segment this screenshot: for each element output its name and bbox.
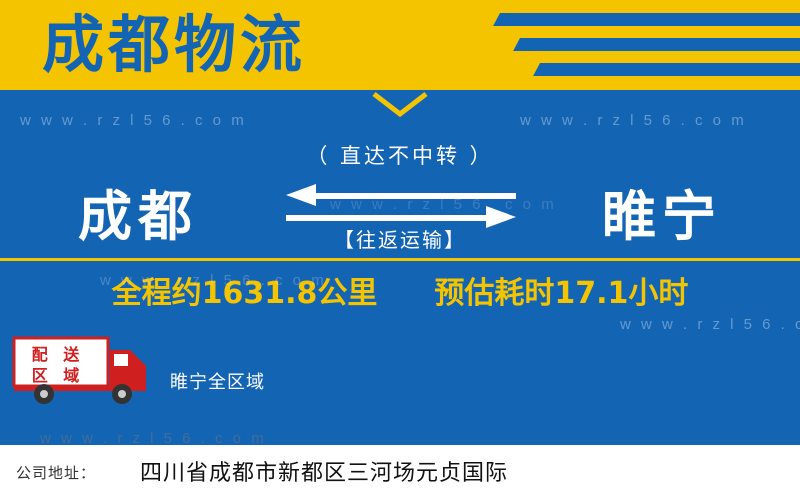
decorative-stripes [380,0,800,90]
delivery-badge: 配 送 区 域 [18,344,98,386]
logistics-banner: 成都物流 （ 直达不中转 ） 成都 睢宁 【往返运输】 全程约1631.8公里 … [0,0,800,500]
direct-note: （ 直达不中转 ） [0,140,800,170]
delivery-badge-line2: 区 域 [18,365,98,386]
stripe-1 [493,13,800,26]
round-trip-label: 【往返运输】 [0,224,800,253]
stripe-2 [513,38,800,51]
header-band: 成都物流 [0,0,800,90]
delivery-area-label: 睢宁全区域 [170,368,265,394]
bidirectional-arrow-icon [286,182,516,230]
stripe-3 [533,63,800,76]
company-address: 四川省成都市新都区三河场元贞国际 [140,455,508,487]
distance-value: 全程约1631.8公里 [112,276,378,311]
yellow-divider [0,258,800,261]
route-stats: 全程约1631.8公里 预估耗时17.1小时 [0,268,800,312]
chevron-down-icon [372,92,428,118]
address-label: 公司地址： [16,462,96,483]
duration-value: 预估耗时17.1小时 [434,276,688,311]
delivery-badge-line1: 配 送 [18,344,98,365]
page-title: 成都物流 [42,6,306,84]
